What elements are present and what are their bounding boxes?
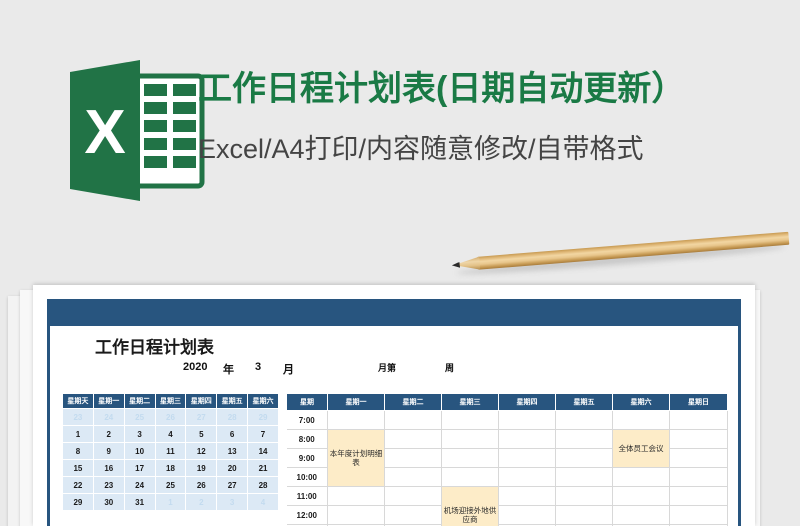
schedule-weekday-header-4: 星期四 [499,394,556,411]
mini-calendar-day[interactable]: 3 [217,494,248,511]
schedule-cell[interactable] [385,506,442,525]
mini-calendar-day[interactable]: 4 [248,494,279,511]
schedule-cell[interactable] [556,430,613,449]
schedule-cell[interactable] [442,411,499,430]
schedule-time-label: 7:00 [287,411,328,430]
mini-calendar-day[interactable]: 14 [248,443,279,460]
schedule-cell[interactable] [499,411,556,430]
mini-calendar-week-row: 891011121314 [63,443,279,460]
date-month[interactable]: 3 [255,361,261,373]
mini-calendar-day[interactable]: 5 [186,426,217,443]
mini-calendar-week-row: 22232425262728 [63,477,279,494]
schedule-cell[interactable] [385,487,442,506]
hero-subtitle: Excel/A4打印/内容随意修改/自带格式 [198,133,644,165]
schedule-cell[interactable] [385,449,442,468]
date-month-label: 月 [283,361,294,377]
mini-calendar-day[interactable]: 24 [124,477,155,494]
schedule-cell[interactable] [613,411,670,430]
mini-calendar-day[interactable]: 15 [63,460,94,477]
schedule-cell[interactable] [556,468,613,487]
hero-title: 工作日程计划表(日期自动更新） [198,70,685,109]
week-label-prefix: 月第 [378,361,396,374]
schedule-time-label: 8:00 [287,430,328,449]
schedule-cell[interactable] [613,487,670,506]
schedule-cell[interactable] [328,411,385,430]
schedule-time-label: 9:00 [287,449,328,468]
mini-calendar-week-row: 1234567 [63,426,279,443]
schedule-weekday-header-1: 星期一 [328,394,385,411]
mini-calendar-weekday-4: 星期四 [186,394,217,409]
mini-calendar[interactable]: 星期天星期一星期二星期三星期四星期五星期六 232425262728291234… [62,393,279,511]
mini-calendar-day[interactable]: 16 [93,460,124,477]
mini-calendar-day[interactable]: 2 [186,494,217,511]
mini-calendar-day[interactable]: 22 [63,477,94,494]
mini-calendar-day[interactable]: 29 [248,409,279,426]
schedule-cell[interactable] [556,506,613,525]
schedule-cell[interactable] [556,487,613,506]
schedule-header-row: 星期星期一星期二星期三星期四星期五星期六星期日 [287,394,728,411]
schedule-cell[interactable] [670,468,728,487]
excel-icon-letter: X [84,98,125,167]
schedule-cell[interactable] [499,430,556,449]
mini-calendar-day[interactable]: 24 [93,409,124,426]
mini-calendar-day[interactable]: 28 [248,477,279,494]
schedule-cell[interactable] [670,411,728,430]
mini-calendar-week-row: 15161718192021 [63,460,279,477]
mini-calendar-day[interactable]: 9 [93,443,124,460]
schedule-cell[interactable] [499,449,556,468]
schedule-cell[interactable] [442,449,499,468]
mini-calendar-day[interactable]: 29 [63,494,94,511]
schedule-cell[interactable] [385,430,442,449]
mini-calendar-day[interactable]: 26 [186,477,217,494]
mini-calendar-day[interactable]: 30 [93,494,124,511]
hero-banner: X 工作日程计划表(日期自动更新） Excel/A4打印/内容随意修改/自带格式 [0,0,800,230]
mini-calendar-day[interactable]: 11 [155,443,186,460]
schedule-cell[interactable] [328,506,385,525]
date-row: 2020 年 3 月 月第 周 [95,361,715,379]
mini-calendar-day[interactable]: 7 [248,426,279,443]
mini-calendar-day[interactable]: 4 [155,426,186,443]
mini-calendar-week-row: 23242526272829 [63,409,279,426]
date-year[interactable]: 2020 [183,361,207,373]
week-label-suffix: 周 [445,361,454,374]
document-title: 工作日程计划表 [95,333,214,358]
mini-calendar-week-row: 2930311234 [63,494,279,511]
excel-icon: X [62,58,210,203]
schedule-cell[interactable] [499,468,556,487]
mini-calendar-day[interactable]: 27 [186,409,217,426]
mini-calendar-header-row: 星期天星期一星期二星期三星期四星期五星期六 [63,394,279,409]
schedule-row: 11:00机场迎接外地供应商 [287,487,728,506]
schedule-cell[interactable] [442,468,499,487]
spreadsheet-preview: 工作日程计划表 2020 年 3 月 月第 周 星期天星期一星期二星期三星期四星… [33,285,755,526]
mini-calendar-day[interactable]: 31 [124,494,155,511]
sheet-header-band [47,299,741,326]
mini-calendar-day[interactable]: 17 [124,460,155,477]
schedule-event-cell[interactable]: 机场迎接外地供应商 [442,487,499,526]
schedule-event-cell[interactable]: 全体员工会议 [613,430,670,468]
mini-calendar-day[interactable]: 25 [124,409,155,426]
mini-calendar-day[interactable]: 23 [93,477,124,494]
mini-calendar-day[interactable]: 10 [124,443,155,460]
schedule-cell[interactable] [499,487,556,506]
mini-calendar-weekday-3: 星期三 [155,394,186,409]
mini-calendar-day[interactable]: 20 [217,460,248,477]
mini-calendar-day[interactable]: 19 [186,460,217,477]
schedule-cell[interactable] [670,506,728,525]
schedule-time-header: 星期 [287,394,328,411]
mini-calendar-day[interactable]: 3 [124,426,155,443]
schedule-weekday-header-7: 星期日 [670,394,728,411]
schedule-row: 7:00 [287,411,728,430]
mini-calendar-day[interactable]: 27 [217,477,248,494]
schedule-cell[interactable] [442,430,499,449]
screenshot-root: X 工作日程计划表(日期自动更新） Excel/A4打印/内容随意修改/自带格式… [0,0,800,526]
schedule-event-cell[interactable]: 本年度计划明细表 [328,430,385,487]
schedule-cell[interactable] [385,411,442,430]
schedule-cell[interactable] [670,487,728,506]
pencil-lead [452,262,460,269]
schedule-row: 8:00本年度计划明细表全体员工会议 [287,430,728,449]
mini-calendar-day[interactable]: 21 [248,460,279,477]
schedule-cell[interactable] [613,468,670,487]
schedule-time-label: 12:00 [287,506,328,525]
schedule-table[interactable]: 星期星期一星期二星期三星期四星期五星期六星期日 7:008:00本年度计划明细表… [286,393,728,526]
mini-calendar-day[interactable]: 1 [63,426,94,443]
date-year-label: 年 [223,361,234,377]
schedule-cell[interactable] [556,411,613,430]
mini-calendar-day[interactable]: 8 [63,443,94,460]
mini-calendar-weekday-1: 星期一 [93,394,124,409]
schedule-cell[interactable] [613,506,670,525]
mini-calendar-day[interactable]: 6 [217,426,248,443]
mini-calendar-day[interactable]: 12 [186,443,217,460]
mini-calendar-day[interactable]: 26 [155,409,186,426]
schedule-row: 12:00 [287,506,728,525]
schedule-cell[interactable] [385,468,442,487]
schedule-weekday-header-6: 星期六 [613,394,670,411]
schedule-cell[interactable] [670,430,728,449]
mini-calendar-day[interactable]: 18 [155,460,186,477]
schedule-weekday-header-2: 星期二 [385,394,442,411]
schedule-weekday-header-3: 星期三 [442,394,499,411]
mini-calendar-day[interactable]: 23 [63,409,94,426]
schedule-time-label: 11:00 [287,487,328,506]
mini-calendar-weekday-2: 星期二 [124,394,155,409]
mini-calendar-day[interactable]: 28 [217,409,248,426]
schedule-cell[interactable] [499,506,556,525]
mini-calendar-weekday-6: 星期六 [248,394,279,409]
schedule-cell[interactable] [328,487,385,506]
mini-calendar-day[interactable]: 25 [155,477,186,494]
mini-calendar-day[interactable]: 1 [155,494,186,511]
schedule-time-label: 10:00 [287,468,328,487]
mini-calendar-weekday-5: 星期五 [217,394,248,409]
schedule-cell[interactable] [670,449,728,468]
pencil-decoration [449,229,790,278]
mini-calendar-weekday-0: 星期天 [63,394,94,409]
schedule-weekday-header-5: 星期五 [556,394,613,411]
mini-calendar-day[interactable]: 13 [217,443,248,460]
schedule-cell[interactable] [556,449,613,468]
mini-calendar-day[interactable]: 2 [93,426,124,443]
